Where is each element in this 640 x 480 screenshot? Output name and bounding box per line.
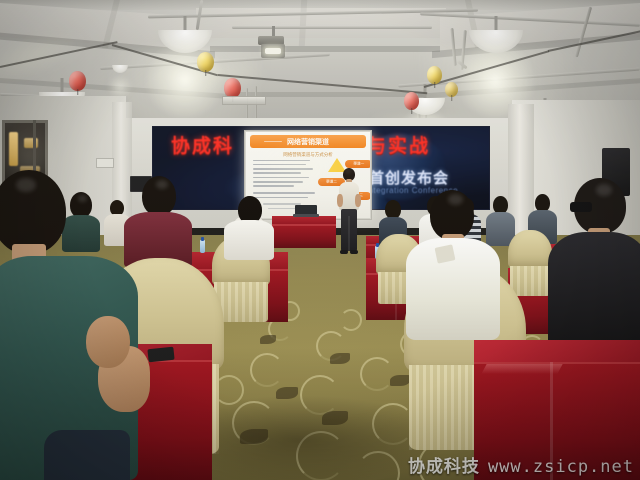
audience-top — [224, 220, 274, 260]
balloon-yellow-3 — [427, 66, 442, 84]
watermark-url: www.zsicp.net — [488, 457, 634, 477]
slide-pill-1: 渠道一 — [345, 160, 370, 168]
audience-elbow — [86, 316, 130, 368]
carpet-swirl — [250, 353, 284, 387]
table-highlight — [481, 364, 563, 374]
balloon-yellow-2 — [197, 52, 214, 72]
watermark-chinese: 协成科技 — [408, 452, 480, 477]
balloon-red-2 — [224, 78, 241, 98]
wall-switch-plate — [96, 158, 114, 168]
water-bottle — [200, 240, 205, 253]
table-edge — [272, 224, 336, 226]
balloon-red-1 — [69, 71, 86, 91]
presenter-laptop — [295, 205, 317, 221]
carpet-swirl — [340, 309, 362, 331]
chair-back — [508, 230, 552, 268]
audience-hair-highlight — [16, 178, 36, 192]
audience-lap-jeans — [44, 430, 130, 480]
eyeglasses-temple — [570, 202, 592, 212]
ceiling-vent — [222, 96, 266, 105]
carpet-dark-motif — [330, 353, 350, 364]
watermark: 协成科技 www.zsicp.net — [408, 452, 634, 477]
presenter-leg-gap — [348, 216, 350, 251]
presenter-hair-highlight — [345, 169, 351, 173]
audience-front-white-shirt — [406, 190, 502, 340]
slide-pill-label: 渠道一 — [353, 162, 364, 167]
balloon-yellow-4 — [445, 82, 458, 97]
balloon-red-3 — [404, 92, 419, 110]
table-skirt — [272, 224, 336, 248]
presenter-shoe-right — [350, 250, 358, 254]
audience-hair-highlight — [448, 194, 463, 205]
conference-room-photo: 协成科 与实战 下首创发布会 IT Integration Conference… — [0, 0, 640, 480]
audience-black-tshirt — [548, 232, 640, 352]
presenter — [336, 168, 362, 260]
audience-front-black-shirt — [548, 178, 640, 352]
carpet-swirl — [360, 357, 394, 391]
presenter-shoe-left — [340, 250, 348, 254]
bottle-cap — [201, 237, 204, 241]
audience-hair-highlight — [596, 184, 612, 196]
presenter-arm-left — [337, 194, 343, 207]
audience-mid-center — [224, 196, 276, 260]
carpet-dark-motif — [260, 335, 276, 344]
screen-glare — [255, 137, 345, 197]
laptop-base — [293, 214, 319, 217]
presenter-arm-right — [355, 194, 361, 207]
ceiling-conduit-2 — [232, 26, 432, 29]
